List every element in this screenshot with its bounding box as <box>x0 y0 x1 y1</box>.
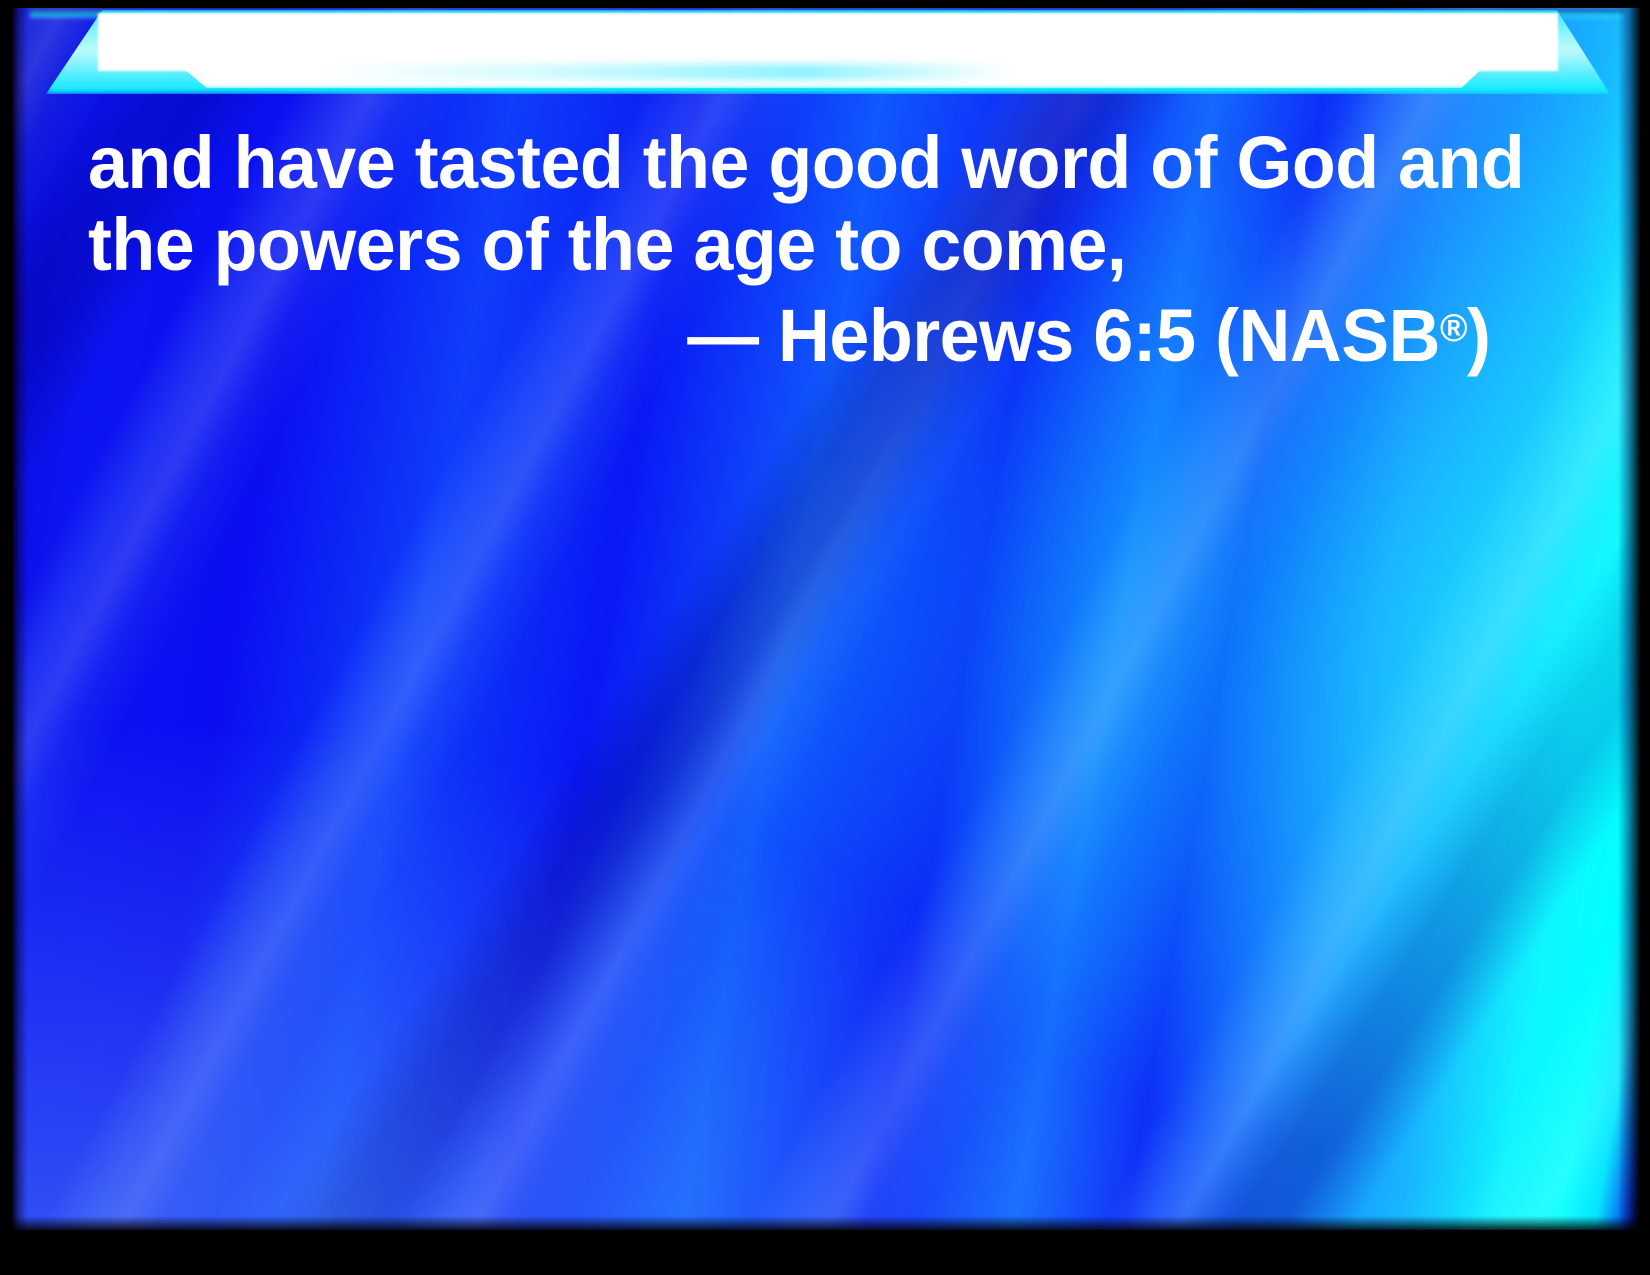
frame-border-top <box>0 0 1650 8</box>
verse-text-block: and have tasted the good word of God and… <box>88 122 1568 379</box>
attribution-closing-paren: ) <box>1467 294 1490 377</box>
verse-line-2: the powers of the age to come, <box>88 204 1524 286</box>
frame-border-left <box>0 0 12 1275</box>
registered-trademark-icon: ® <box>1440 307 1467 350</box>
frame-border-bottom <box>0 1230 1650 1275</box>
top-glow-white-core <box>98 13 1558 71</box>
verse-attribution: — Hebrews 6:5 (NASB®) <box>132 286 1568 379</box>
top-glow-band <box>12 8 1640 118</box>
attribution-reference: Hebrews 6:5 (NASB <box>778 294 1440 377</box>
frame-border-right <box>1640 0 1650 1275</box>
verse-line-1: and have tasted the good word of God and <box>88 122 1524 204</box>
frame-right-vignette <box>1618 8 1640 1230</box>
frame-left-vignette <box>12 8 28 1230</box>
frame-bottom-vignette <box>12 1216 1640 1230</box>
top-glow-streak <box>312 64 1012 80</box>
attribution-em-dash: — <box>687 294 778 377</box>
slide-canvas: and have tasted the good word of God and… <box>0 0 1650 1275</box>
